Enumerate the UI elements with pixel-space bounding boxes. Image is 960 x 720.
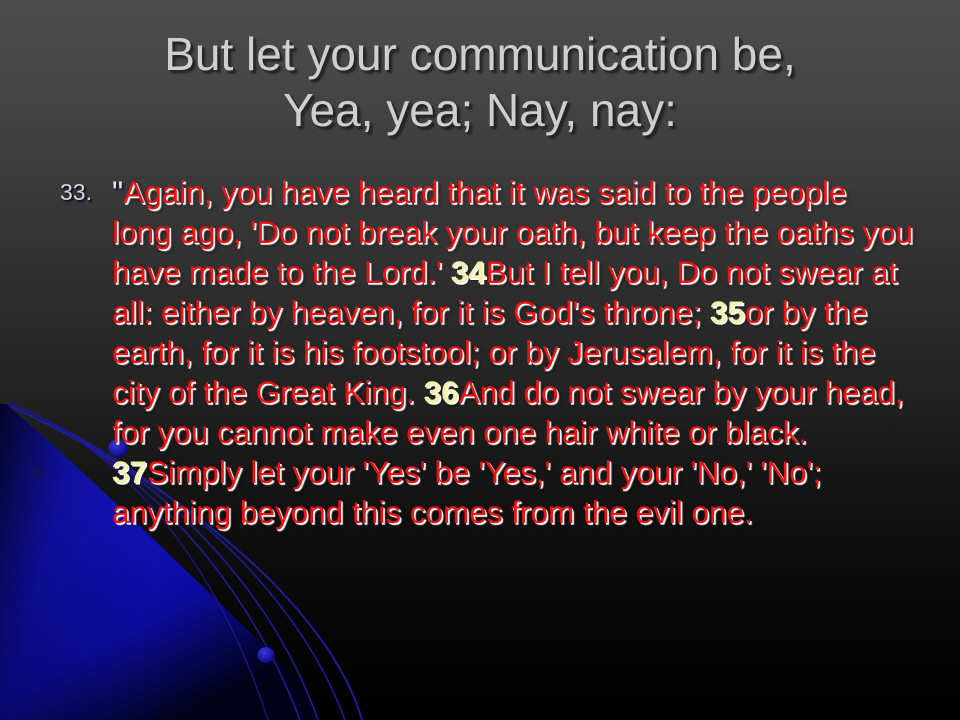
title-line-2: Yea, yea; Nay, nay: bbox=[48, 82, 912, 138]
slide-canvas: But let your communication be, Yea, yea;… bbox=[0, 0, 960, 720]
decor-dot bbox=[258, 647, 275, 663]
verse-text: "Again, you have heard that it was said … bbox=[112, 172, 914, 532]
verse-number: 35 bbox=[710, 294, 745, 330]
verse-body: Again, you have heard that it was said t… bbox=[112, 174, 913, 530]
body-paragraph: 33. "Again, you have heard that it was s… bbox=[56, 172, 914, 532]
decor-dot bbox=[32, 467, 44, 478]
verse-number: 36 bbox=[424, 374, 459, 410]
verse-number: 37 bbox=[112, 454, 147, 490]
page-title: But let your communication be, Yea, yea;… bbox=[48, 26, 912, 138]
title-line-1: But let your communication be, bbox=[48, 26, 912, 82]
verse-number: 34 bbox=[451, 254, 486, 290]
bullet-number: 33. bbox=[56, 172, 112, 212]
verse-prose: Simply let your 'Yes' be 'Yes,' and your… bbox=[112, 454, 821, 530]
open-quote-mark: " bbox=[112, 174, 123, 210]
